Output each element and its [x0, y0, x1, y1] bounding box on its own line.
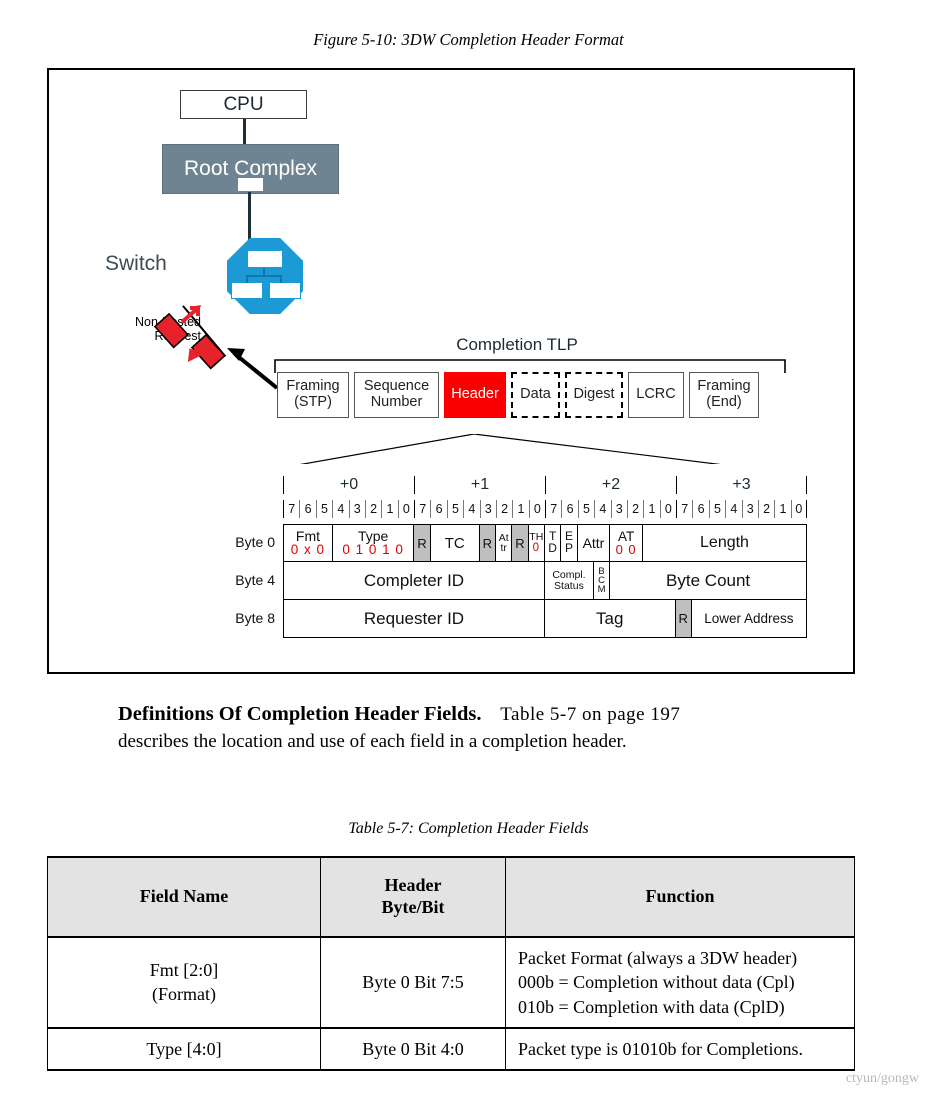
field-attr-high-name: Attr	[499, 533, 509, 554]
field-td-name: TD	[548, 531, 557, 555]
figure-frame: CPU Root Complex Switch Non-Posted Reque…	[47, 68, 855, 674]
field-ep: EP	[561, 525, 577, 561]
column-header-function: Function	[506, 857, 855, 937]
switch-internal-bus-h	[246, 275, 282, 277]
field-tag: Tag	[545, 600, 676, 637]
field-length-name: Length	[700, 535, 749, 551]
switch-label: Switch	[105, 252, 167, 276]
field-reserved-b0-bit1: R	[512, 525, 528, 561]
bit-label-2-0: 0	[660, 500, 676, 518]
definitions-body: describes the location and use of each f…	[118, 731, 627, 752]
bit-label-1-6: 6	[430, 500, 446, 518]
field-reserved-b0-bit7-name: R	[417, 537, 426, 550]
field-lower-address-name: Lower Address	[704, 612, 793, 626]
bit-label-1-4: 4	[463, 500, 479, 518]
bit-label-3-3: 3	[742, 500, 758, 518]
bit-label-2-1: 1	[643, 500, 659, 518]
byte4-row-label: Byte 4	[213, 572, 275, 588]
bit-label-3-0: 0	[791, 500, 807, 518]
bit-label-1-0: 0	[529, 500, 545, 518]
bit-label-2-4: 4	[594, 500, 610, 518]
definitions-table-ref: Table 5-7 on page 197	[500, 704, 680, 725]
field-th-value: 0	[533, 543, 540, 555]
field-attr-high: Attr	[496, 525, 512, 561]
field-th: TH 0	[529, 525, 545, 561]
tlp-title: Completion TLP	[267, 335, 767, 355]
field-bcm-name: BCM	[598, 567, 606, 595]
bit-label-0-6: 6	[299, 500, 315, 518]
non-posted-line2: Request	[154, 329, 201, 343]
bit-label-0-0: 0	[398, 500, 414, 518]
bit-label-2-2: 2	[627, 500, 643, 518]
table-row: Fmt [2:0] (Format) Byte 0 Bit 7:5 Packet…	[48, 937, 855, 1028]
definitions-heading: Definitions Of Completion Header Fields.	[118, 703, 482, 725]
bit-label-3-1: 1	[774, 500, 790, 518]
field-requester-id-name: Requester ID	[364, 610, 464, 627]
tlp-framing-stp-line1: Framing	[286, 379, 339, 395]
field-length: Length	[643, 525, 806, 561]
tlp-cell-header: Header	[444, 372, 506, 418]
row-type-bytebit: Byte 0 Bit 4:0	[321, 1028, 506, 1070]
field-at: AT 0 0	[610, 525, 643, 561]
completion-header-fields-table: Field Name Header Byte/Bit Function Fmt …	[47, 856, 855, 1071]
tlp-cell-data: Data	[511, 372, 560, 418]
table-header-row: Field Name Header Byte/Bit Function	[48, 857, 855, 937]
bit-label-2-7: 7	[545, 500, 561, 518]
field-at-value: 0 0	[616, 543, 637, 556]
tlp-data-label: Data	[520, 387, 551, 403]
bit-label-2-5: 5	[578, 500, 594, 518]
dword-offset-2: +2	[545, 476, 676, 494]
tlp-digest-label: Digest	[573, 387, 614, 403]
row-fmt-bytebit: Byte 0 Bit 7:5	[321, 937, 506, 1028]
tlp-sequence-line1: Sequence	[364, 379, 429, 395]
field-ep-name: EP	[565, 531, 573, 555]
tlp-lcrc-label: LCRC	[636, 387, 675, 403]
switch-internal-bus-r	[280, 275, 282, 283]
row-type-function: Packet type is 01010b for Completions.	[506, 1028, 855, 1070]
field-type-name: Type	[358, 529, 388, 543]
row-fmt-function-line1: Packet Format (always a 3DW header)	[518, 948, 797, 968]
bit-number-row: 76543210765432107654321076543210	[283, 500, 807, 518]
field-reserved-b0-bit1-name: R	[515, 537, 524, 550]
topology-diagram: CPU Root Complex Switch Non-Posted Reque…	[49, 70, 857, 470]
bit-label-3-2: 2	[758, 500, 774, 518]
bit-label-0-1: 1	[381, 500, 397, 518]
tlp-framing-stp-line2: (STP)	[294, 395, 332, 411]
field-completer-id: Completer ID	[284, 562, 545, 599]
bit-label-2-6: 6	[561, 500, 577, 518]
bit-label-3-5: 5	[709, 500, 725, 518]
field-reserved-b11-bit7: R	[676, 600, 692, 637]
field-reserved-b0-bit3: R	[480, 525, 496, 561]
byte0-row-label: Byte 0	[213, 534, 275, 550]
field-lower-address: Lower Address	[692, 600, 806, 637]
field-type: Type 0 1 0 1 0	[333, 525, 415, 561]
field-type-value: 0 1 0 1 0	[342, 543, 404, 557]
dword-offset-1: +1	[414, 476, 545, 494]
field-td: TD	[545, 525, 561, 561]
switch-internal-bus-l	[246, 275, 248, 283]
row-fmt-function-line2: 000b = Completion without data (Cpl)	[518, 972, 795, 992]
bit-label-1-5: 5	[447, 500, 463, 518]
bit-label-3-4: 4	[725, 500, 741, 518]
field-attr-name: Attr	[583, 536, 605, 550]
tlp-cell-framing-stp: Framing (STP)	[277, 372, 349, 418]
bit-label-0-7: 7	[283, 500, 299, 518]
tlp-cell-row: Framing (STP) Sequence Number Header Dat…	[277, 372, 759, 418]
root-complex-port	[237, 177, 264, 192]
tlp-framing-end-line2: (End)	[706, 395, 741, 411]
tlp-cell-sequence-number: Sequence Number	[354, 372, 439, 418]
field-th-name: TH	[529, 532, 543, 543]
column-header-byte-bit-line1: Header	[385, 875, 442, 895]
field-completion-status-name: Compl.Status	[552, 570, 585, 591]
cpu-rc-link	[243, 119, 246, 144]
figure-caption: Figure 5-10: 3DW Completion Header Forma…	[0, 30, 937, 50]
tlp-framing-end-line1: Framing	[697, 379, 750, 395]
tlp-cell-framing-end: Framing (End)	[689, 372, 759, 418]
byte8-row-label: Byte 8	[213, 610, 275, 626]
tlp-cell-lcrc: LCRC	[628, 372, 684, 418]
byte8-row: Requester ID Tag R Lower Address	[283, 600, 807, 638]
field-byte-count: Byte Count	[610, 562, 806, 599]
watermark: ctyun/gongw	[846, 1071, 919, 1087]
bit-label-2-3: 3	[611, 500, 627, 518]
field-bcm: BCM	[594, 562, 610, 599]
header-byte-table: +0 +1 +2 +3 7654321076543210765432107654…	[49, 452, 857, 672]
field-tc-name: TC	[445, 536, 465, 551]
row-fmt-field-name: Fmt [2:0] (Format)	[48, 937, 321, 1028]
switch-downstream-port-right	[269, 282, 301, 299]
row-type-field-name: Type [4:0]	[48, 1028, 321, 1070]
bit-label-3-7: 7	[676, 500, 692, 518]
row-fmt-field-line2: (Format)	[152, 984, 216, 1004]
dword-offset-3: +3	[676, 476, 807, 494]
column-header-field-name: Field Name	[48, 857, 321, 937]
cpu-box: CPU	[180, 90, 307, 119]
non-posted-request-label: Non-Posted Request	[91, 315, 201, 343]
table-caption: Table 5-7: Completion Header Fields	[0, 820, 937, 838]
row-fmt-field-line1: Fmt [2:0]	[150, 960, 219, 980]
field-tc: TC	[431, 525, 480, 561]
column-header-header-byte-bit: Header Byte/Bit	[321, 857, 506, 937]
field-at-name: AT	[618, 530, 634, 544]
bit-label-1-3: 3	[480, 500, 496, 518]
field-fmt: Fmt 0 x 0	[284, 525, 333, 561]
field-tag-name: Tag	[596, 610, 623, 627]
field-byte-count-name: Byte Count	[666, 572, 750, 589]
bit-label-1-7: 7	[414, 500, 430, 518]
field-completer-id-name: Completer ID	[364, 572, 464, 589]
row-fmt-function-line3: 010b = Completion with data (CplD)	[518, 997, 785, 1017]
dword-offset-0: +0	[283, 476, 414, 494]
field-reserved-b0-bit3-name: R	[483, 537, 492, 550]
tlp-sequence-line2: Number	[371, 395, 423, 411]
dword-offset-row: +0 +1 +2 +3	[283, 476, 807, 494]
field-attr: Attr	[578, 525, 611, 561]
field-fmt-name: Fmt	[296, 529, 320, 543]
definitions-paragraph: Definitions Of Completion Header Fields.…	[118, 700, 860, 756]
tlp-header-label: Header	[451, 387, 499, 403]
bit-label-0-3: 3	[349, 500, 365, 518]
byte4-row: Completer ID Compl.Status BCM Byte Count	[283, 562, 807, 600]
bit-label-1-2: 2	[496, 500, 512, 518]
tlp-cell-digest: Digest	[565, 372, 623, 418]
switch-downstream-port-left	[231, 282, 263, 299]
field-fmt-value: 0 x 0	[291, 543, 325, 557]
bit-label-0-4: 4	[332, 500, 348, 518]
byte0-row: Fmt 0 x 0 Type 0 1 0 1 0 R TC R Attr R	[283, 524, 807, 562]
field-completion-status: Compl.Status	[545, 562, 594, 599]
row-fmt-function: Packet Format (always a 3DW header) 000b…	[506, 937, 855, 1028]
field-reserved-b11-bit7-name: R	[678, 612, 687, 625]
switch-upstream-port	[247, 250, 283, 268]
column-header-byte-bit-line2: Byte/Bit	[382, 897, 445, 917]
field-reserved-b0-bit7: R	[414, 525, 430, 561]
bit-label-1-1: 1	[512, 500, 528, 518]
non-posted-line1: Non-Posted	[135, 315, 201, 329]
bit-label-3-6: 6	[692, 500, 708, 518]
expansion-leader-lines	[49, 434, 857, 464]
field-requester-id: Requester ID	[284, 600, 545, 637]
table-row: Type [4:0] Byte 0 Bit 4:0 Packet type is…	[48, 1028, 855, 1070]
bit-label-0-5: 5	[316, 500, 332, 518]
bit-label-0-2: 2	[365, 500, 381, 518]
rc-switch-link	[248, 192, 251, 240]
